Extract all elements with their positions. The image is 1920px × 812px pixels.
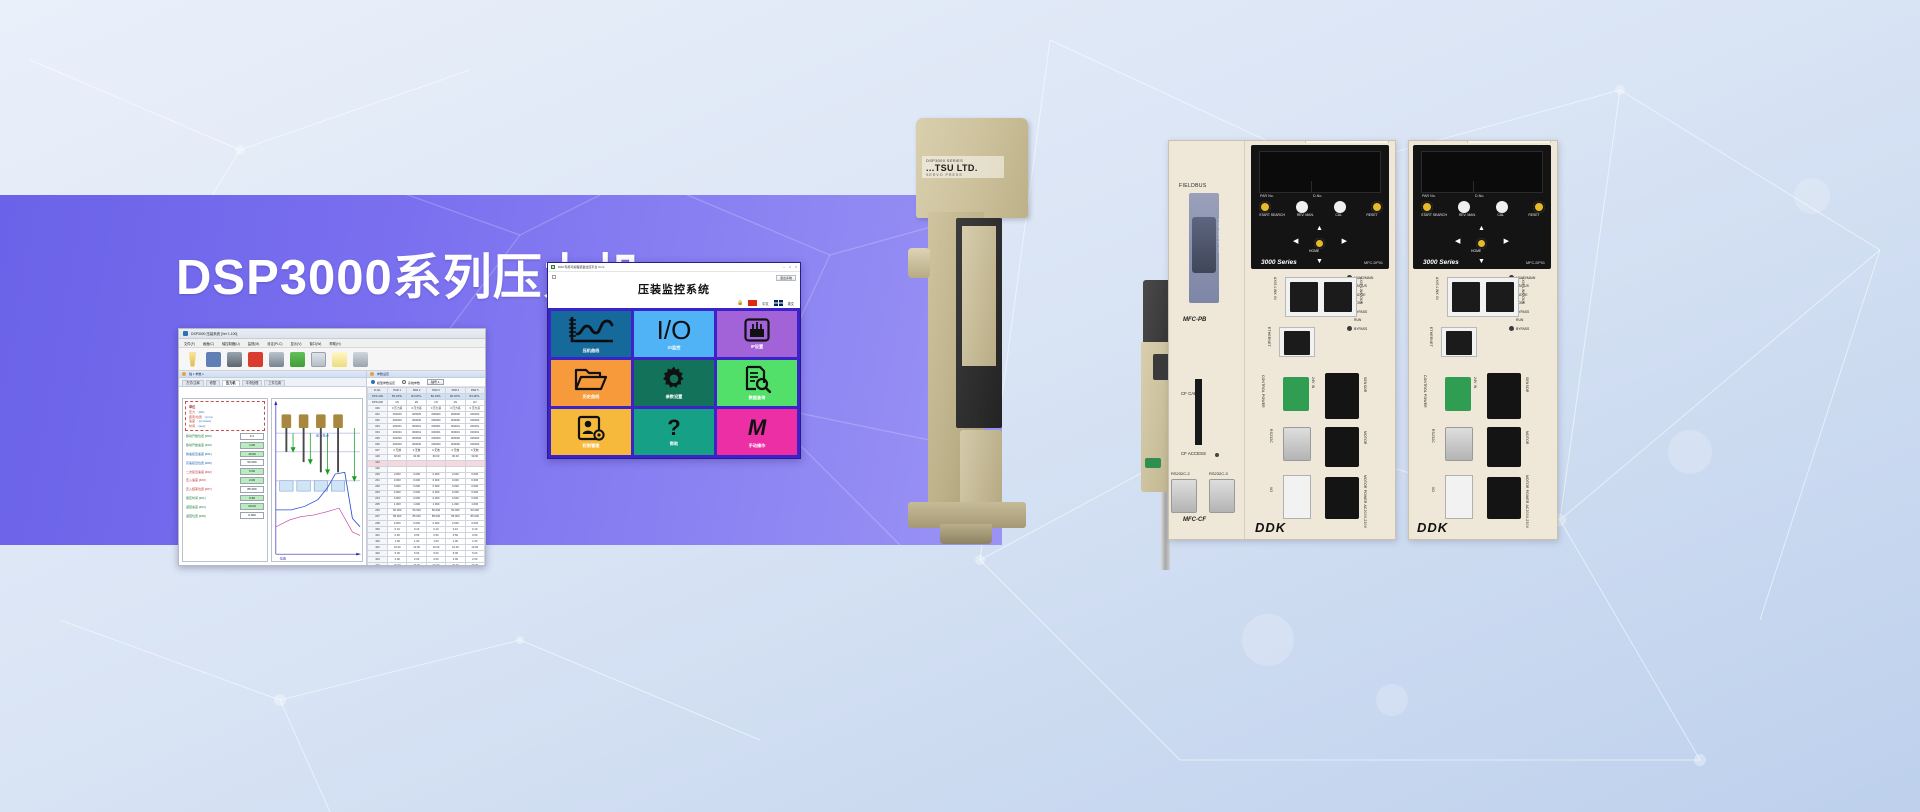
param-row: 移动开始速度 [400]1.00 xyxy=(186,442,264,449)
network-icon xyxy=(744,318,770,342)
param-row: 移动开始位置 [300]0.1 xyxy=(186,433,264,440)
param-label: 快速接近速度 [401] xyxy=(186,452,212,456)
tile-label: 压机曲线 xyxy=(583,348,600,354)
cf-card-label: CF CARD xyxy=(1181,391,1201,396)
exit-system-button[interactable]: 退出系统 xyxy=(776,275,796,281)
press-slide-cover xyxy=(962,226,996,366)
hmi-window-buttons[interactable]: – □ × xyxy=(783,265,797,269)
param-row: 高速接近位置 [206]50.000 xyxy=(186,459,264,466)
led-label: BYPASS xyxy=(1354,327,1367,331)
parameter-editor-pane: 轴 1 参数 1 方式/注释 修整 压力机 平滑处理 工件位置 单位 压力: (… xyxy=(179,371,367,565)
menu-item-screen[interactable]: 画面(C) xyxy=(203,341,214,346)
reset-label: RESET xyxy=(1357,214,1387,218)
hmi-touch-panel[interactable]: DDK专用可编程装备监控平台 V1.0 – □ × 压装监控系统 退出系统 🔒 … xyxy=(547,262,801,459)
menu-item-axis[interactable]: 轴控制器(U) xyxy=(222,341,240,346)
amp1-par-no-label: PAR No. xyxy=(1260,194,1274,198)
table-pane-title: 参数设定 xyxy=(377,372,389,376)
start-search-label: START SEARCH xyxy=(1419,214,1449,218)
pc-toolbar[interactable] xyxy=(179,348,485,371)
sensor-connector xyxy=(1487,373,1521,419)
rs232c-label: RS232C xyxy=(1269,429,1273,443)
axis-link-out-port xyxy=(1324,282,1352,312)
tile-label: 历史曲线 xyxy=(583,394,600,400)
menu-item-window[interactable]: 窗口(W) xyxy=(310,341,322,346)
hmi-status-bar[interactable]: 🔒 中文 英文 xyxy=(737,300,794,306)
hmi-checkbox[interactable] xyxy=(552,275,556,279)
pc-window-title: DSP3000 压装系统 [Ver 1.100] xyxy=(191,331,237,336)
io-label: I/O xyxy=(1431,487,1435,492)
reset-button[interactable] xyxy=(1533,201,1545,213)
actuator-badge xyxy=(1145,458,1161,468)
reset-button[interactable] xyxy=(1371,201,1383,213)
home-button[interactable] xyxy=(1476,238,1487,249)
param-row: 返回位置 [208]0.000 xyxy=(186,512,264,519)
motor-label: MOTOR xyxy=(1363,431,1367,445)
amp2-display-sub xyxy=(1421,181,1543,193)
press-head-housing: DSP3000 SERIES ...TSU LTD. SERVO PRESS xyxy=(916,118,1028,218)
axis-link-in-port xyxy=(1452,282,1480,312)
document-search-icon xyxy=(743,365,771,393)
cal-label: CAL xyxy=(1324,214,1354,218)
sensor-label: SENSOR xyxy=(1363,377,1367,393)
tile-help[interactable]: ? 帮助 xyxy=(634,409,714,455)
radio-model-params[interactable]: 模型参数设定 xyxy=(371,380,395,385)
cell-par4[interactable]: 20.00 xyxy=(446,563,465,565)
press-brand-line3: SERVO PRESS xyxy=(926,173,1004,177)
model-label-mfc-cf: MFC-CF xyxy=(1183,517,1206,523)
menu-item-monitor[interactable]: 监视(M) xyxy=(248,341,260,346)
minimize-icon[interactable]: – xyxy=(783,265,785,269)
param-value-input[interactable]: 0.000 xyxy=(240,512,264,519)
amp2-series-label: 3000 Series xyxy=(1423,259,1459,266)
unit-key: 时间 xyxy=(189,424,195,429)
param-value-input[interactable]: 1.00 xyxy=(240,442,264,449)
param-label: 压入结束位置 [207] xyxy=(186,487,212,491)
save-icon[interactable] xyxy=(206,352,221,367)
start-search-button[interactable] xyxy=(1259,201,1271,213)
cf-access-led xyxy=(1215,453,1219,457)
app-icon xyxy=(183,331,188,336)
ddk-amplifier-unit-1: FIELDBUS PROFIBUS DP-V1 MFC-PB CF CARD C… xyxy=(1168,140,1396,540)
tile-press-curve[interactable]: 压机曲线 xyxy=(551,311,631,357)
tile-label: 参数设置 xyxy=(666,394,683,400)
amp1-display-divider xyxy=(1311,181,1312,193)
tile-label: 权限管理 xyxy=(583,443,600,449)
tile-ip-settings[interactable]: IP设置 xyxy=(717,311,797,357)
gear-icon xyxy=(661,366,687,392)
param-row: 压入速度 [403]2.00 xyxy=(186,477,264,484)
tile-manual-operation[interactable]: M 手动操作 xyxy=(717,409,797,455)
unit-row: 时间: (sec) xyxy=(189,424,261,429)
tile-label: 帮助 xyxy=(670,441,678,447)
control-power-connector xyxy=(1283,377,1309,411)
amp2-ethernet-block xyxy=(1441,327,1477,357)
tab-trim[interactable]: 修整 xyxy=(206,380,220,386)
amp1-d-no-label: D-No. xyxy=(1313,194,1322,198)
param-label: 高速接近位置 [206] xyxy=(186,461,212,465)
cal-button[interactable] xyxy=(1334,201,1346,213)
rs232c-2-label: RS232C-2 xyxy=(1171,471,1190,476)
sensor-label: SENSOR xyxy=(1525,377,1529,393)
dpad-left-icon[interactable]: ◀ xyxy=(1293,238,1298,245)
cell-par2[interactable]: 20.00 xyxy=(407,563,426,565)
amp2-par-no-label: PAR No. xyxy=(1422,194,1436,198)
fieldbus-connector-housing: PROFIBUS DP-V1 xyxy=(1189,193,1219,303)
question-icon: ? xyxy=(667,417,680,439)
table-pane-titlebar: 参数设定 xyxy=(367,371,485,378)
ethernet-label: ETHERNET xyxy=(1267,327,1271,347)
amp1-drive-column: PAR No. D-No. START SEARCH REV. MAN. CAL… xyxy=(1245,141,1395,539)
motor-power-label: MOTOR POWER AC200V-230V xyxy=(1363,475,1367,528)
led-indicator xyxy=(1347,326,1352,331)
cell-par3[interactable]: 20.00 xyxy=(426,563,445,565)
sync-icon[interactable] xyxy=(290,352,305,367)
param-label: 返回速度 [404] xyxy=(186,505,206,509)
motor-power-connector xyxy=(1487,477,1521,519)
led-label: RUN xyxy=(1354,318,1361,322)
tab-workpiece[interactable]: 工件位置 xyxy=(264,380,285,386)
home-label: HOME xyxy=(1309,249,1319,253)
tile-label: IP设置 xyxy=(751,344,763,350)
rev-man-button[interactable] xyxy=(1296,201,1308,213)
unit-legend-box: 单位 压力: (kN) 距离/位置: (mm) 速度: (mm/sec) 时间:… xyxy=(185,401,265,431)
start-search-label: START SEARCH xyxy=(1257,214,1287,218)
pc-window-body: 轴 1 参数 1 方式/注释 修整 压力机 平滑处理 工件位置 单位 压力: (… xyxy=(179,371,485,565)
print-icon[interactable] xyxy=(227,352,242,367)
cf-access-label: CF ACCESS xyxy=(1181,451,1206,456)
motor-connector xyxy=(1487,427,1521,467)
rev-man-label: REV. MAN. xyxy=(1452,214,1482,218)
amp2-button-row[interactable] xyxy=(1421,201,1545,213)
param-value-input[interactable]: 5.00 xyxy=(240,468,264,475)
lock-icon[interactable]: 🔒 xyxy=(737,300,743,306)
uk-flag-icon[interactable] xyxy=(774,300,783,306)
menu-item-file[interactable]: 文件(F) xyxy=(184,341,195,346)
param-label: 移动开始速度 [400] xyxy=(186,443,212,447)
rev-man-button[interactable] xyxy=(1458,201,1470,213)
param-label: 压入速度 [403] xyxy=(186,478,206,482)
press-servo-motor xyxy=(960,430,1002,512)
io-connector xyxy=(1283,475,1311,519)
param-label: 二次接近速度 [402] xyxy=(186,470,212,474)
amp1-dpad[interactable]: ▲ ◀ ▶ ▼ HOME xyxy=(1293,225,1347,265)
control-power-label: CONTROL POWER xyxy=(1423,375,1427,408)
tile-history-curve[interactable]: 历史曲线 xyxy=(551,360,631,406)
hmi-header: 压装监控系统 退出系统 🔒 中文 英文 xyxy=(548,272,800,308)
fieldbus-option-card: FIELDBUS PROFIBUS DP-V1 MFC-PB CF CARD C… xyxy=(1169,141,1245,539)
led-row: BYPASS xyxy=(1347,326,1391,331)
press-brand-label: DSP3000 SERIES ...TSU LTD. SERVO PRESS xyxy=(922,156,1004,178)
motor-connector xyxy=(1325,427,1359,467)
radio-system-params[interactable]: 系统参数 xyxy=(402,380,420,385)
param-value-input[interactable]: 2.00 xyxy=(240,477,264,484)
dpad-left-icon[interactable]: ◀ xyxy=(1455,238,1460,245)
menu-item-plc[interactable]: 设定(PLC) xyxy=(267,341,282,346)
dpad-right-icon[interactable]: ▶ xyxy=(1342,238,1347,245)
param-label: 返回位置 [208] xyxy=(186,514,206,518)
io-icon: I/O xyxy=(657,317,692,343)
tab-smoothing[interactable]: 平滑处理 xyxy=(242,380,263,386)
led-label: RUN xyxy=(1516,318,1523,322)
inner-window-title: 轴 1 参数 1 xyxy=(189,372,204,376)
fieldbus-protocol-label: PROFIBUS DP-V1 xyxy=(1217,219,1221,253)
amp1-ethernet-block xyxy=(1279,327,1315,357)
amp1-button-row[interactable] xyxy=(1259,201,1383,213)
amp1-operator-panel[interactable]: PAR No. D-No. START SEARCH REV. MAN. CAL… xyxy=(1251,145,1389,269)
dsub9-connector xyxy=(1192,217,1216,273)
axis-link-out-port xyxy=(1486,282,1514,312)
run-spacer xyxy=(1509,318,1514,323)
ddk-brand-logo: DDK xyxy=(1255,520,1286,535)
new-icon[interactable] xyxy=(185,352,200,367)
param-value-input[interactable]: 50.000 xyxy=(240,459,264,466)
amp1-axis-link-block xyxy=(1285,277,1357,317)
param-label: 移动开始位置 [300] xyxy=(186,434,212,438)
tile-parameter-settings[interactable]: 参数设置 xyxy=(634,360,714,406)
tile-label: 数据查询 xyxy=(749,395,766,401)
tile-label: IO监控 xyxy=(668,345,681,351)
axis-link-in-label: AXIS LINK IN xyxy=(1435,277,1439,300)
press-profile-diagram: 压力基点 位置 xyxy=(271,398,363,562)
amp1-model-label: MFC-DP01 xyxy=(1364,261,1383,265)
radio-dot[interactable] xyxy=(402,380,406,384)
amp2-operator-panel[interactable]: PAR No. D-No. START SEARCH REV. MAN. CAL… xyxy=(1413,145,1551,269)
tab-press[interactable]: 压力机 xyxy=(222,380,240,386)
amp2-axis-link-block xyxy=(1447,277,1519,317)
parameter-table-pane: 参数设定 模型参数设定 系统参数 轴号 1 D-No. PAR 1 PAR 2 … xyxy=(367,371,485,565)
tile-io-monitor[interactable]: I/O IO监控 xyxy=(634,311,714,357)
parameter-list: 单位 压力: (kN) 距离/位置: (mm) 速度: (mm/sec) 时间:… xyxy=(182,398,268,562)
rs232c-3-label: RS232C-3 xyxy=(1209,471,1228,476)
rev-man-label: REV. MAN. xyxy=(1290,214,1320,218)
hmi-tile-grid[interactable]: 压机曲线 I/O IO监控 IP设置 历史曲线 xyxy=(551,311,797,455)
hmi-titlebar: DDK专用可编程装备监控平台 V1.0 – □ × xyxy=(548,263,800,272)
china-flag-icon[interactable] xyxy=(748,300,757,306)
menu-item-help[interactable]: 帮助(H) xyxy=(329,341,340,346)
led-indicator xyxy=(1509,326,1514,331)
unit-legend-title: 单位 xyxy=(189,404,261,409)
lang-en-label[interactable]: 英文 xyxy=(788,301,794,306)
ddk-amplifier-unit-2: PAR No. D-No. START SEARCH REV. MAN. CAL… xyxy=(1408,140,1558,540)
rs232c-connector xyxy=(1445,427,1473,461)
param-label: 保压时间 [301] xyxy=(186,496,206,500)
led-row: RUN xyxy=(1509,318,1553,323)
parameter-tabs[interactable]: 方式/注释 修整 压力机 平滑处理 工件位置 xyxy=(179,378,366,387)
svg-text:压力基点: 压力基点 xyxy=(316,433,329,438)
model-label-mfc-pb: MFC-PB xyxy=(1183,317,1206,323)
table-window-icon xyxy=(370,372,374,376)
amp1-display-sub xyxy=(1259,181,1381,193)
pc-software-window[interactable]: DSP3000 压装系统 [Ver 1.100] 文件(F) 画面(C) 轴控制… xyxy=(178,328,486,566)
param-value-input[interactable]: 0.1 xyxy=(240,433,264,440)
cell-par5[interactable]: 20.00 xyxy=(465,563,484,565)
tile-permission-management[interactable]: 权限管理 xyxy=(551,409,631,455)
control-power-label: CONTROL POWER xyxy=(1261,375,1265,408)
menu-item-view[interactable]: 显示(V) xyxy=(291,341,302,346)
curve-chart-icon xyxy=(565,314,617,346)
radio-dot[interactable] xyxy=(371,380,375,384)
cal-label: CAL xyxy=(1486,214,1516,218)
pc-menubar[interactable]: 文件(F) 画面(C) 轴控制器(U) 监视(M) 设定(PLC) 显示(V) … xyxy=(179,339,485,348)
axis-link-out-label: AXIS LINK OUT xyxy=(1521,277,1525,304)
tile-data-query[interactable]: 数据查询 xyxy=(717,360,797,406)
servo-press-machine: DSP3000 SERIES ...TSU LTD. SERVO PRESS xyxy=(900,100,1130,540)
ethernet-port xyxy=(1284,331,1310,355)
dpad-right-icon[interactable]: ▶ xyxy=(1504,238,1509,245)
radio-label: 模型参数设定 xyxy=(377,381,395,385)
motor-label: MOTOR xyxy=(1525,431,1529,445)
amp2-drive-column: PAR No. D-No. START SEARCH REV. MAN. CAL… xyxy=(1408,141,1557,539)
amp2-d-no-label: D-No. xyxy=(1475,194,1484,198)
power-24v-label: 24V IN xyxy=(1311,377,1315,389)
pc-window-titlebar: DSP3000 压装系统 [Ver 1.100] xyxy=(179,329,485,339)
table-body: DPS-200B4 DPS-B4 DPS-B4 DPS-B4 DPS-B4 DP… xyxy=(368,394,485,565)
param-value-input[interactable]: 0.50 xyxy=(240,495,264,502)
ethernet-label: ETHERNET xyxy=(1429,327,1433,347)
press-foot xyxy=(940,524,992,544)
parameter-table[interactable]: D-No. PAR 1 PAR 2 PAR 3 PAR 4 PAR 5 DPS-… xyxy=(367,387,485,565)
param-row: 返回速度 [404]20.00 xyxy=(186,503,264,510)
amp2-display-divider xyxy=(1473,181,1474,193)
manual-m-icon: M xyxy=(748,415,766,441)
window-icon xyxy=(182,372,186,376)
rs232c-connector xyxy=(1283,427,1311,461)
start-search-button[interactable] xyxy=(1421,201,1433,213)
table-filter-row[interactable]: 模型参数设定 系统参数 轴号 1 xyxy=(367,378,485,387)
axis-select-button[interactable]: 轴号 1 xyxy=(427,379,444,385)
dpad-down-icon[interactable]: ▼ xyxy=(1316,258,1323,265)
rs232c-label: RS232C xyxy=(1431,429,1435,443)
param-row: 压入结束位置 [207]85.000 xyxy=(186,486,264,493)
param-row: 快速接近速度 [401]10.00 xyxy=(186,451,264,458)
axis-link-in-port xyxy=(1290,282,1318,312)
axis-link-in-label: AXIS LINK IN xyxy=(1273,277,1277,300)
dpad-up-icon[interactable]: ▲ xyxy=(1316,225,1323,232)
fieldbus-label: FIELDBUS xyxy=(1179,183,1207,189)
svg-text:位置: 位置 xyxy=(280,556,287,561)
param-value-input[interactable]: 10.00 xyxy=(240,451,264,458)
hmi-system-title: 压装监控系统 xyxy=(548,281,800,297)
param-row: 二次接近速度 [402]5.00 xyxy=(186,468,264,475)
dpad-down-icon[interactable]: ▼ xyxy=(1478,258,1485,265)
close-icon[interactable]: × xyxy=(795,265,797,269)
power-24v-label: 24V IN xyxy=(1473,377,1477,389)
disk-icon[interactable] xyxy=(311,352,326,367)
control-power-connector xyxy=(1445,377,1471,411)
maximize-icon[interactable]: □ xyxy=(789,265,791,269)
transfer-icon[interactable] xyxy=(269,352,284,367)
reset-label: RESET xyxy=(1519,214,1549,218)
amp2-button-labels: START SEARCH REV. MAN. CAL RESET xyxy=(1419,214,1549,218)
amp1-series-label: 3000 Series xyxy=(1261,259,1297,266)
sensor-connector xyxy=(1325,373,1359,419)
amp1-button-labels: START SEARCH REV. MAN. CAL RESET xyxy=(1257,214,1387,218)
tab-mode-comment[interactable]: 方式/注释 xyxy=(182,380,204,386)
press-adjust-knob xyxy=(908,248,930,278)
led-row: RUN xyxy=(1347,318,1391,323)
home-button[interactable] xyxy=(1314,238,1325,249)
amp2-model-label: MFC-DP01 xyxy=(1526,261,1545,265)
cal-button[interactable] xyxy=(1496,201,1508,213)
table-row[interactable]: 40420.0020.0020.0020.0020.00 xyxy=(368,563,485,565)
ethernet-port xyxy=(1446,331,1472,355)
led-row: BYPASS xyxy=(1509,326,1553,331)
unit-value: : (sec) xyxy=(197,424,205,429)
dpad-up-icon[interactable]: ▲ xyxy=(1478,225,1485,232)
hmi-window-title: DDK专用可编程装备监控平台 V1.0 xyxy=(558,265,604,269)
io-connector xyxy=(1445,475,1473,519)
param-row: 保压时间 [301]0.50 xyxy=(186,495,264,502)
lang-cn-label[interactable]: 中文 xyxy=(762,301,768,306)
cell-dno: 404 xyxy=(368,563,388,565)
axis-link-out-label: AXIS LINK OUT xyxy=(1359,277,1363,304)
io-label: I/O xyxy=(1269,487,1273,492)
amp2-dpad[interactable]: ▲ ◀ ▶ ▼ HOME xyxy=(1455,225,1509,265)
user-settings-icon xyxy=(577,415,605,441)
led-label: BYPASS xyxy=(1516,327,1529,331)
motor-power-connector xyxy=(1325,477,1359,519)
tile-label: 手动操作 xyxy=(749,443,766,449)
curve-icon[interactable] xyxy=(332,352,347,367)
hmi-app-icon xyxy=(551,265,555,269)
run-spacer xyxy=(1347,318,1352,323)
motor-power-label: MOTOR POWER AC200V-230V xyxy=(1525,475,1529,528)
radio-label: 系统参数 xyxy=(408,381,420,385)
home-label: HOME xyxy=(1471,249,1481,253)
cell-par1[interactable]: 20.00 xyxy=(388,563,407,565)
inner-window-titlebar: 轴 1 参数 1 xyxy=(179,371,366,378)
param-value-input[interactable]: 20.00 xyxy=(240,503,264,510)
rs232c-3-connector xyxy=(1209,479,1235,513)
param-value-input[interactable]: 85.000 xyxy=(240,486,264,493)
folder-icon xyxy=(574,366,608,392)
press-brand-line2: ...TSU LTD. xyxy=(926,163,1004,173)
ddk-brand-logo: DDK xyxy=(1417,520,1448,535)
rs232c-2-connector xyxy=(1171,479,1197,513)
cf-card-slot xyxy=(1195,379,1202,445)
stop-icon[interactable] xyxy=(248,352,263,367)
tool-icon[interactable] xyxy=(353,352,368,367)
